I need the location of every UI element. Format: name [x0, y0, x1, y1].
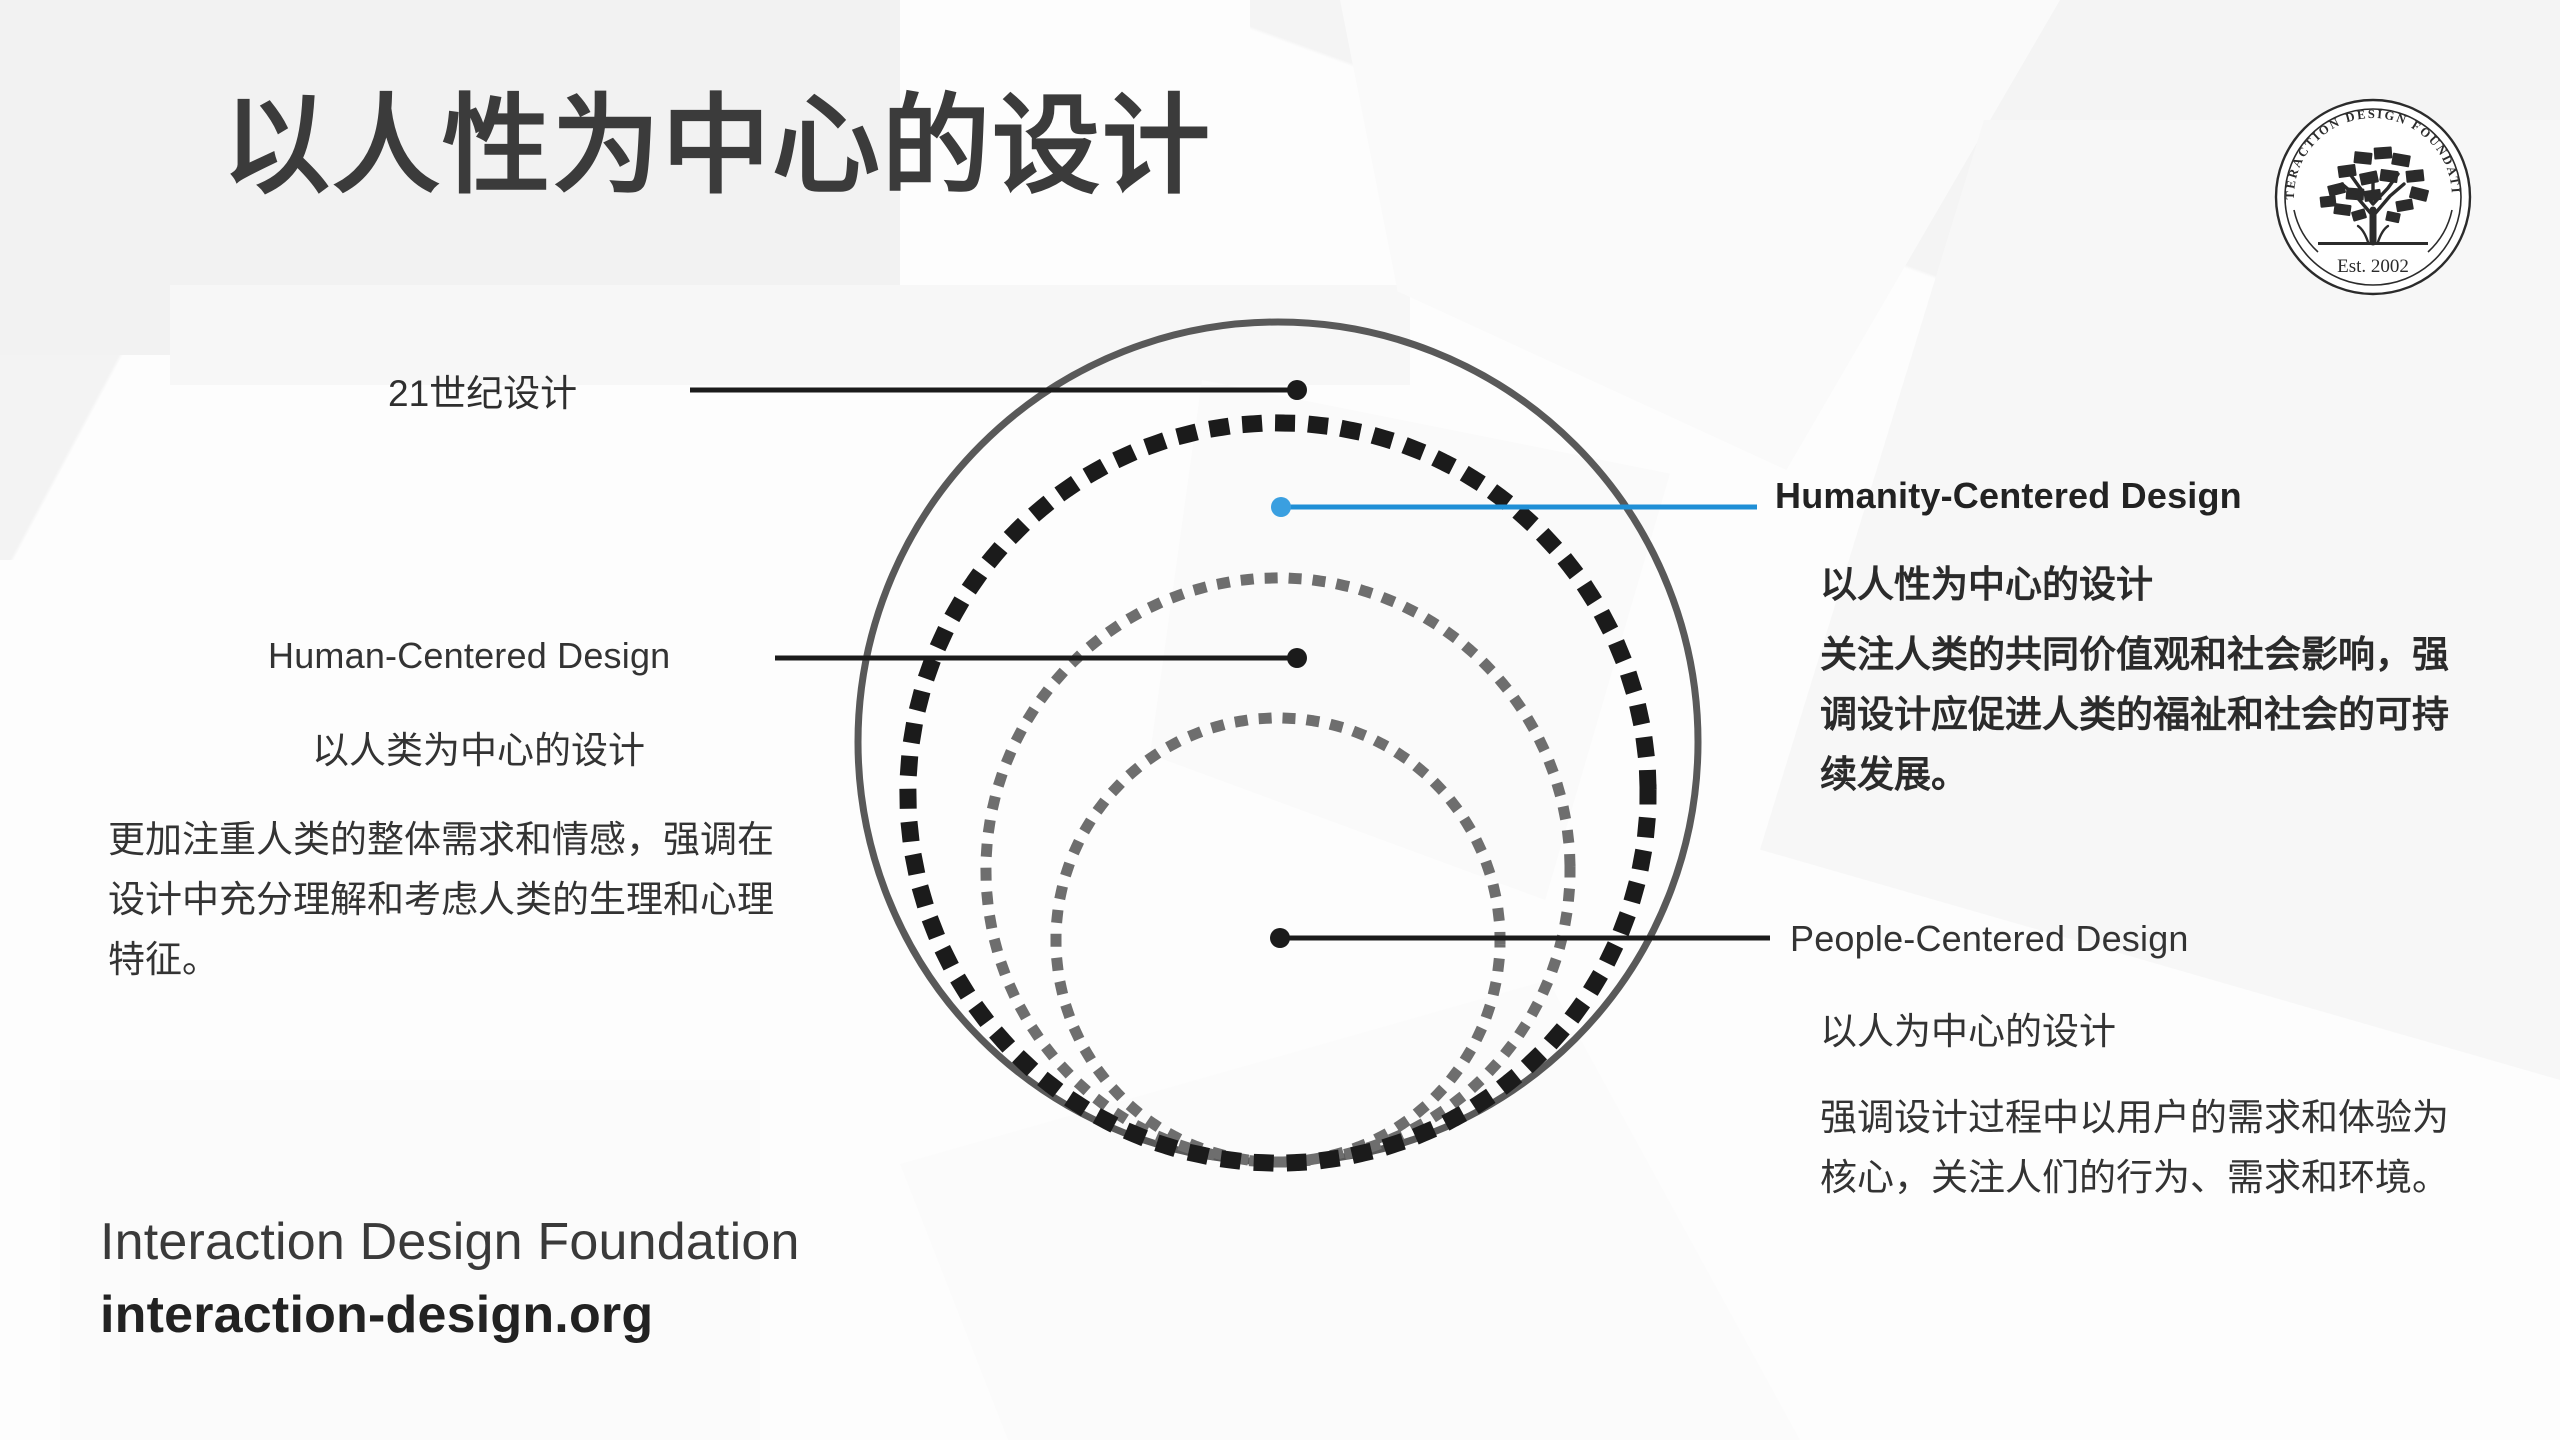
footer-website-url[interactable]: interaction-design.org: [100, 1285, 653, 1345]
callout-label-century: 21世纪设计: [388, 363, 577, 417]
background-shape: [170, 285, 1410, 385]
background-shape: [1150, 380, 1670, 900]
footer-organization-name: Interaction Design Foundation: [100, 1212, 800, 1272]
background-shape: [900, 980, 1800, 1440]
callout-body-humanity-centered: 关注人类的共同价值观和社会影响，强调设计应促进人类的福祉和社会的可持续发展。: [1820, 625, 2480, 805]
callout-label-humanity-centered: Humanity-Centered Design: [1775, 475, 2242, 517]
page-title: 以人性为中心的设计: [222, 88, 1212, 205]
svg-text:Est. 2002: Est. 2002: [2337, 256, 2409, 277]
callout-body-people-centered: 强调设计过程中以用户的需求和体验为核心，关注人们的行为、需求和环境。: [1820, 1088, 2480, 1208]
callout-label-human-centered: Human-Centered Design: [268, 635, 670, 677]
callout-body-human-centered: 更加注重人类的整体需求和情感，强调在设计中充分理解和考虑人类的生理和心理特征。: [108, 810, 808, 990]
idf-seal-logo-icon: INTERACTION DESIGN FOUNDATION: [2268, 92, 2478, 302]
callout-subtitle-people-centered: 以人为中心的设计: [1820, 1003, 2116, 1060]
callout-subtitle-humanity-centered: 以人性为中心的设计: [1820, 556, 2153, 613]
callout-label-people-centered: People-Centered Design: [1790, 918, 2189, 960]
slide-canvas: 以人性为中心的设计 INTERACTION DESIGN FOUNDATION: [0, 0, 2560, 1440]
callout-subtitle-human-centered: 以人类为中心的设计: [312, 722, 645, 779]
